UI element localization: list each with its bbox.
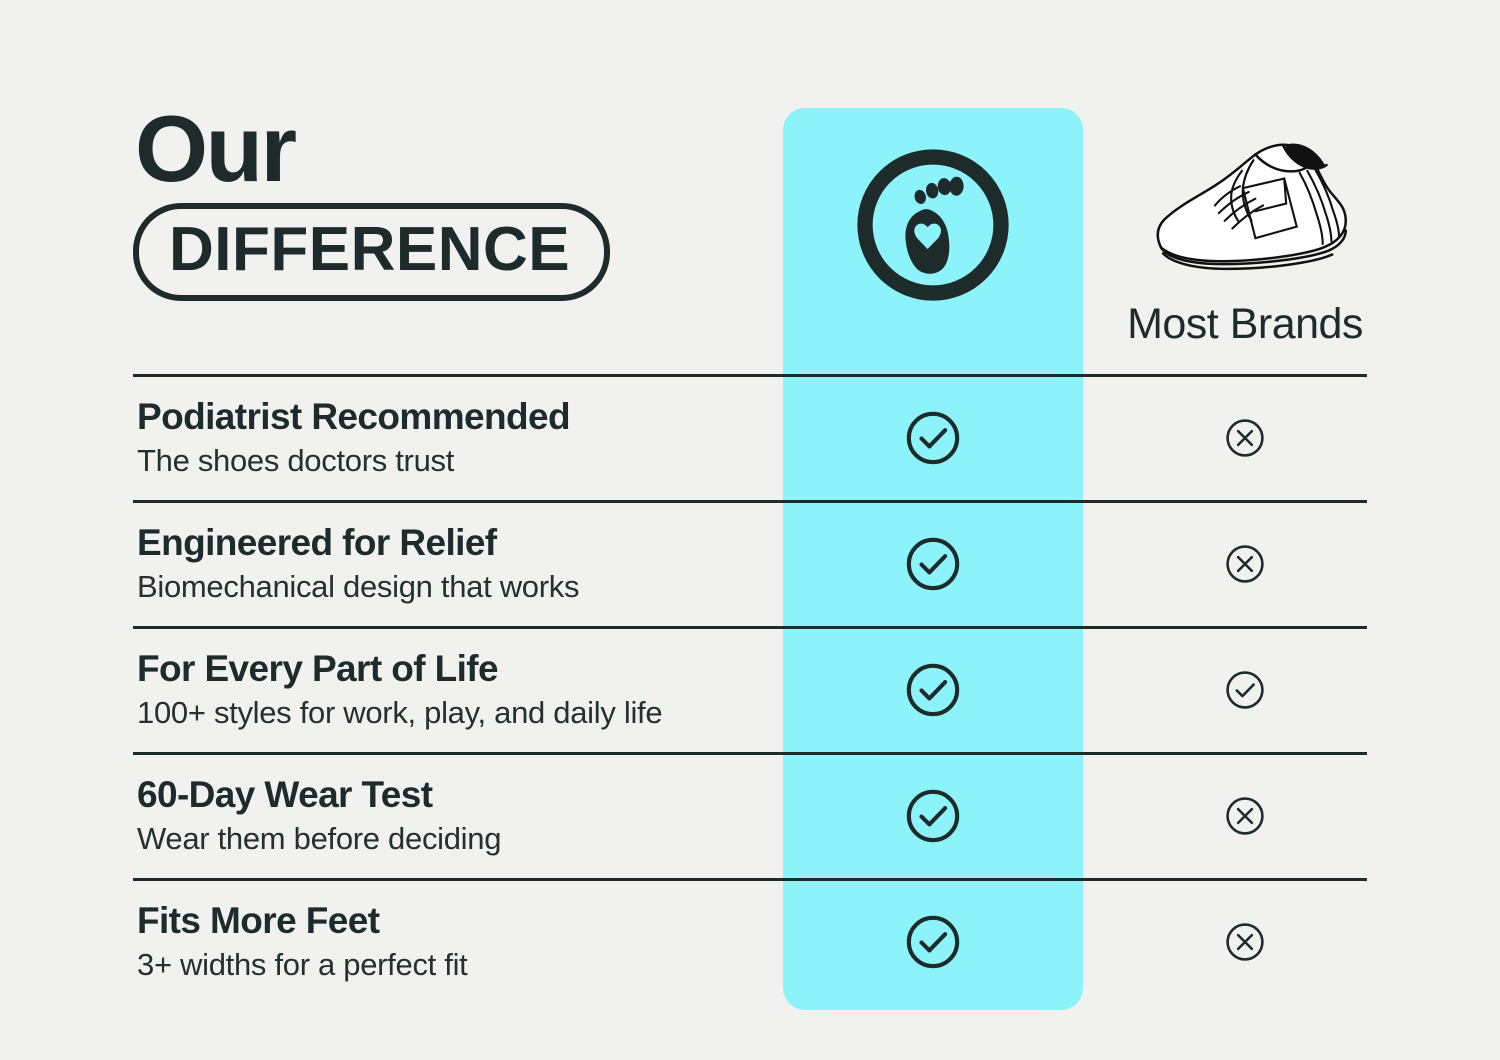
- check-circle-icon: [904, 409, 962, 467]
- feature-text: Engineered for Relief Biomechanical desi…: [137, 501, 767, 626]
- cell-ours: [783, 375, 1083, 500]
- x-circle-icon: [1223, 542, 1267, 586]
- x-circle-icon: [1223, 794, 1267, 838]
- table-header: Our DIFFERENCE: [0, 0, 1500, 374]
- feature-subtitle: Wear them before deciding: [137, 820, 767, 857]
- table-row: Fits More Feet 3+ widths for a perfect f…: [0, 879, 1500, 1004]
- feature-subtitle: 3+ widths for a perfect fit: [137, 946, 767, 983]
- check-circle-icon: [1223, 668, 1267, 712]
- feature-text: 60-Day Wear Test Wear them before decidi…: [137, 753, 767, 878]
- feature-title: Fits More Feet: [137, 900, 767, 941]
- foot-heart-circle-icon: [848, 140, 1018, 310]
- table-row: Engineered for Relief Biomechanical desi…: [0, 501, 1500, 626]
- cell-most-brands: [1100, 375, 1390, 500]
- check-circle-icon: [904, 535, 962, 593]
- cell-most-brands: [1100, 501, 1390, 626]
- page-title: Our DIFFERENCE: [133, 104, 693, 301]
- title-line-our: Our: [135, 104, 693, 193]
- feature-text: For Every Part of Life 100+ styles for w…: [137, 627, 767, 752]
- cell-ours: [783, 627, 1083, 752]
- feature-title: 60-Day Wear Test: [137, 774, 767, 815]
- column-header-most-brands: Most Brands: [1100, 300, 1390, 349]
- feature-subtitle: The shoes doctors trust: [137, 442, 767, 479]
- cell-most-brands: [1100, 627, 1390, 752]
- title-line-difference: DIFFERENCE: [133, 203, 610, 301]
- feature-text: Fits More Feet 3+ widths for a perfect f…: [137, 879, 767, 1004]
- x-circle-icon: [1223, 920, 1267, 964]
- cell-ours: [783, 879, 1083, 1004]
- table-row: For Every Part of Life 100+ styles for w…: [0, 627, 1500, 752]
- comparison-table: Our DIFFERENCE: [0, 0, 1500, 1060]
- table-row: 60-Day Wear Test Wear them before decidi…: [0, 753, 1500, 878]
- feature-subtitle: 100+ styles for work, play, and daily li…: [137, 694, 767, 731]
- feature-title: Podiatrist Recommended: [137, 396, 767, 437]
- cell-ours: [783, 501, 1083, 626]
- feature-subtitle: Biomechanical design that works: [137, 568, 767, 605]
- feature-title: Engineered for Relief: [137, 522, 767, 563]
- feature-text: Podiatrist Recommended The shoes doctors…: [137, 375, 767, 500]
- cell-ours: [783, 753, 1083, 878]
- cell-most-brands: [1100, 879, 1390, 1004]
- cell-most-brands: [1100, 753, 1390, 878]
- check-circle-icon: [904, 661, 962, 719]
- x-circle-icon: [1223, 416, 1267, 460]
- table-row: Podiatrist Recommended The shoes doctors…: [0, 375, 1500, 500]
- sneaker-line-art-icon: [1140, 112, 1390, 297]
- check-circle-icon: [904, 787, 962, 845]
- feature-title: For Every Part of Life: [137, 648, 767, 689]
- check-circle-icon: [904, 913, 962, 971]
